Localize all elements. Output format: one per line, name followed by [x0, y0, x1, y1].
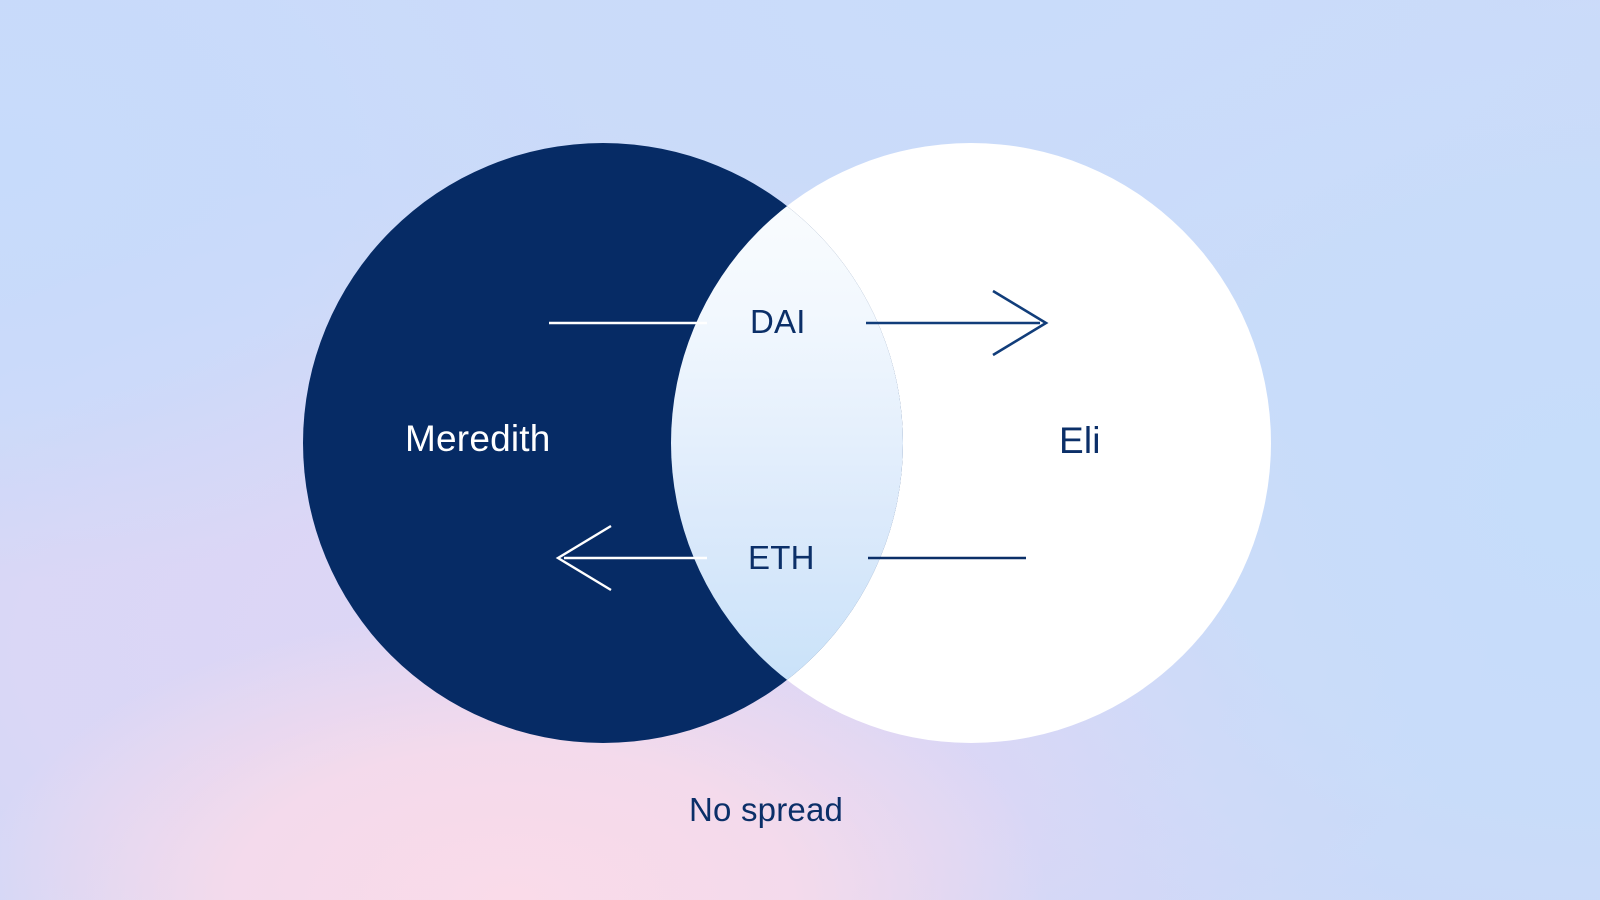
venn-label-eli: Eli — [1059, 420, 1101, 462]
flow-label-eth: ETH — [748, 539, 815, 577]
diagram-canvas: Meredith Eli DAI ETH No spread — [0, 0, 1600, 900]
diagram-caption: No spread — [689, 791, 843, 829]
venn-diagram — [0, 0, 1600, 900]
venn-label-meredith: Meredith — [405, 418, 551, 460]
flow-label-dai: DAI — [750, 303, 806, 341]
